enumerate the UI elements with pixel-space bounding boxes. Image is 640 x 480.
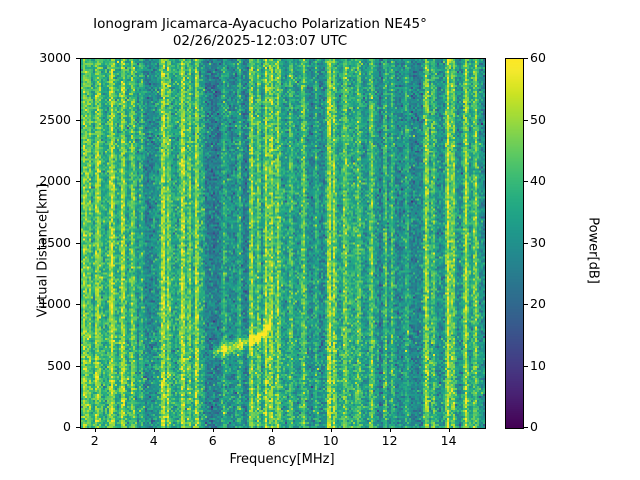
x-tick-label: 14 [429, 433, 469, 448]
title-line-main: Ionogram Jicamarca-Ayacucho Polarization… [0, 16, 520, 33]
x-tick-mark [331, 428, 332, 432]
colorbar-tick-mark [524, 120, 528, 121]
colorbar-tick-label: 20 [530, 296, 546, 311]
colorbar-tick-label: 60 [530, 50, 546, 65]
colorbar-tick-label: 40 [530, 173, 546, 188]
y-tick-mark [76, 181, 80, 182]
x-tick-mark [154, 428, 155, 432]
colorbar-gradient [506, 59, 523, 428]
colorbar-tick-label: 10 [530, 358, 546, 373]
y-tick-mark [76, 304, 80, 305]
x-axis-label: Frequency[MHz] [80, 452, 484, 467]
plot-axes [80, 58, 486, 429]
colorbar-tick-mark [524, 366, 528, 367]
y-tick-label: 0 [18, 419, 71, 434]
colorbar [505, 58, 524, 429]
title-line-timestamp: 02/26/2025-12:03:07 UTC [0, 33, 520, 50]
colorbar-tick-mark [524, 427, 528, 428]
y-tick-mark [76, 58, 80, 59]
x-tick-mark [272, 428, 273, 432]
colorbar-tick-label: 30 [530, 235, 546, 250]
ionogram-figure: Ionogram Jicamarca-Ayacucho Polarization… [0, 0, 640, 480]
y-tick-mark [76, 243, 80, 244]
y-tick-label: 2500 [18, 112, 71, 127]
x-tick-label: 6 [193, 433, 233, 448]
x-tick-label: 12 [370, 433, 410, 448]
x-tick-label: 10 [311, 433, 351, 448]
x-tick-label: 8 [252, 433, 292, 448]
y-tick-mark [76, 120, 80, 121]
colorbar-tick-mark [524, 181, 528, 182]
ionogram-heatmap [81, 59, 485, 428]
x-tick-mark [390, 428, 391, 432]
colorbar-tick-label: 0 [530, 419, 538, 434]
chart-title: Ionogram Jicamarca-Ayacucho Polarization… [0, 16, 520, 50]
x-tick-label: 4 [134, 433, 174, 448]
colorbar-tick-mark [524, 304, 528, 305]
x-tick-mark [95, 428, 96, 432]
colorbar-tick-mark [524, 58, 528, 59]
y-axis-label: Virtual Distance[km] [36, 136, 51, 366]
y-tick-mark [76, 366, 80, 367]
colorbar-label: Power[dB] [586, 136, 601, 366]
x-tick-mark [213, 428, 214, 432]
colorbar-tick-mark [524, 243, 528, 244]
x-tick-mark [449, 428, 450, 432]
y-tick-mark [76, 427, 80, 428]
x-tick-label: 2 [75, 433, 115, 448]
colorbar-tick-label: 50 [530, 112, 546, 127]
y-tick-label: 3000 [18, 50, 71, 65]
